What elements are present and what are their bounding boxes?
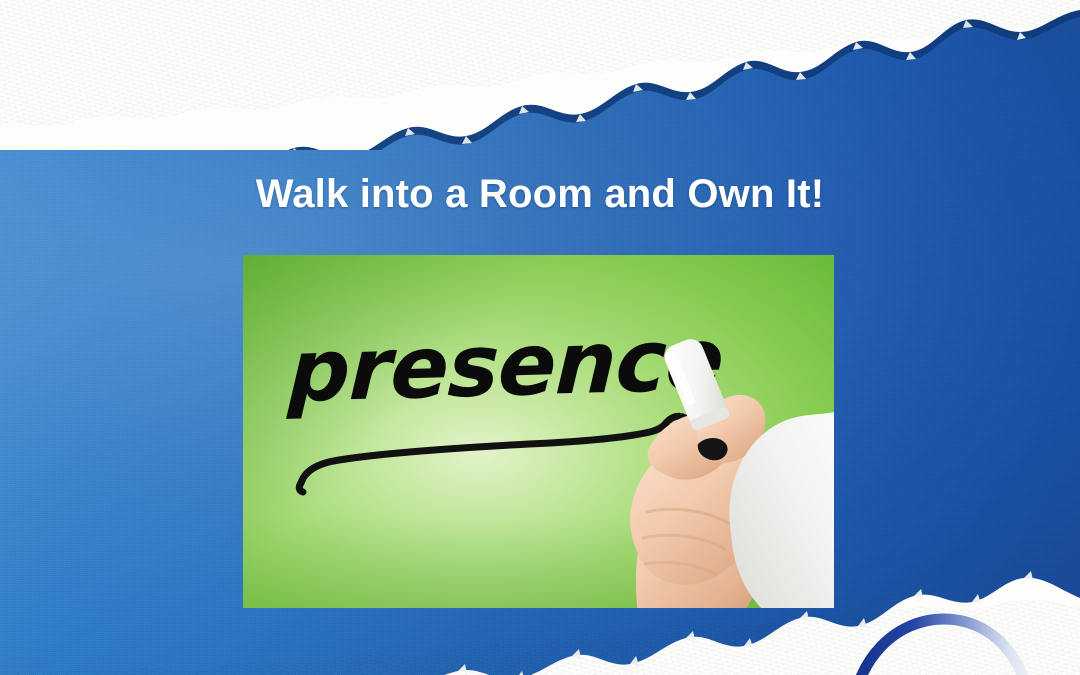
hand-icon [580,326,834,608]
slide-canvas: presence [0,0,1080,675]
presence-photo: presence [243,255,834,608]
page-title: Walk into a Room and Own It! [0,171,1080,217]
